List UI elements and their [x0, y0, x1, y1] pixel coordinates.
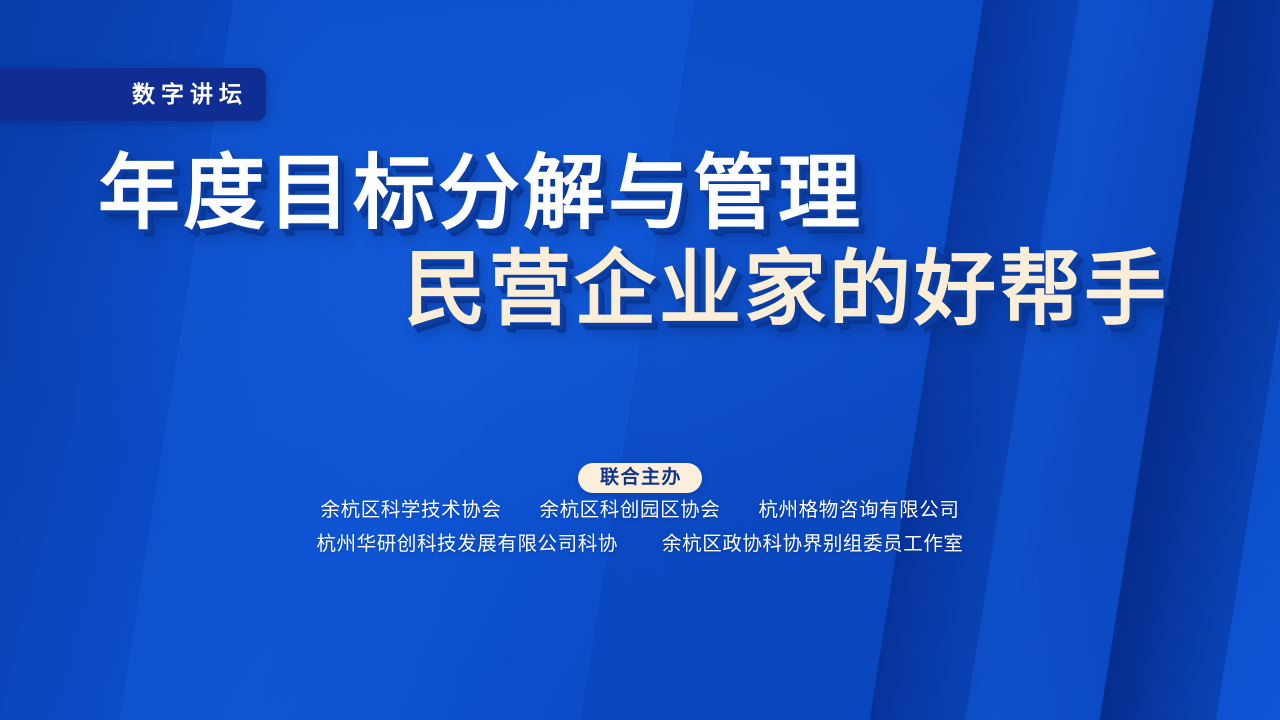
organizers-block: 联合主办 余杭区科学技术协会 余杭区科创园区协会 杭州格物咨询有限公司 杭州华研… — [0, 463, 1280, 561]
title-line-2: 民营企业家的好帮手 — [0, 242, 1280, 338]
organizer-row-1: 余杭区科学技术协会 余杭区科创园区协会 杭州格物咨询有限公司 — [0, 493, 1280, 527]
organizer-item: 杭州格物咨询有限公司 — [758, 499, 959, 521]
title-block: 年度目标分解与管理 民营企业家的好帮手 — [0, 146, 1280, 338]
organizers-pill-row: 联合主办 — [0, 463, 1280, 493]
title-line-1: 年度目标分解与管理 — [0, 146, 1280, 242]
co-organizer-pill: 联合主办 — [578, 463, 702, 493]
poster-canvas: 数字讲坛 年度目标分解与管理 民营企业家的好帮手 联合主办 余杭区科学技术协会 … — [0, 0, 1280, 720]
category-badge: 数字讲坛 — [0, 68, 266, 121]
organizer-item: 杭州华研创科技发展有限公司科协 — [316, 533, 618, 555]
category-badge-label: 数字讲坛 — [126, 83, 248, 106]
organizer-item: 余杭区政协科协界别组委员工作室 — [662, 533, 964, 555]
organizer-item: 余杭区科学技术协会 — [321, 499, 502, 521]
organizer-item: 余杭区科创园区协会 — [539, 499, 720, 521]
organizer-row-2: 杭州华研创科技发展有限公司科协 余杭区政协科协界别组委员工作室 — [0, 527, 1280, 561]
